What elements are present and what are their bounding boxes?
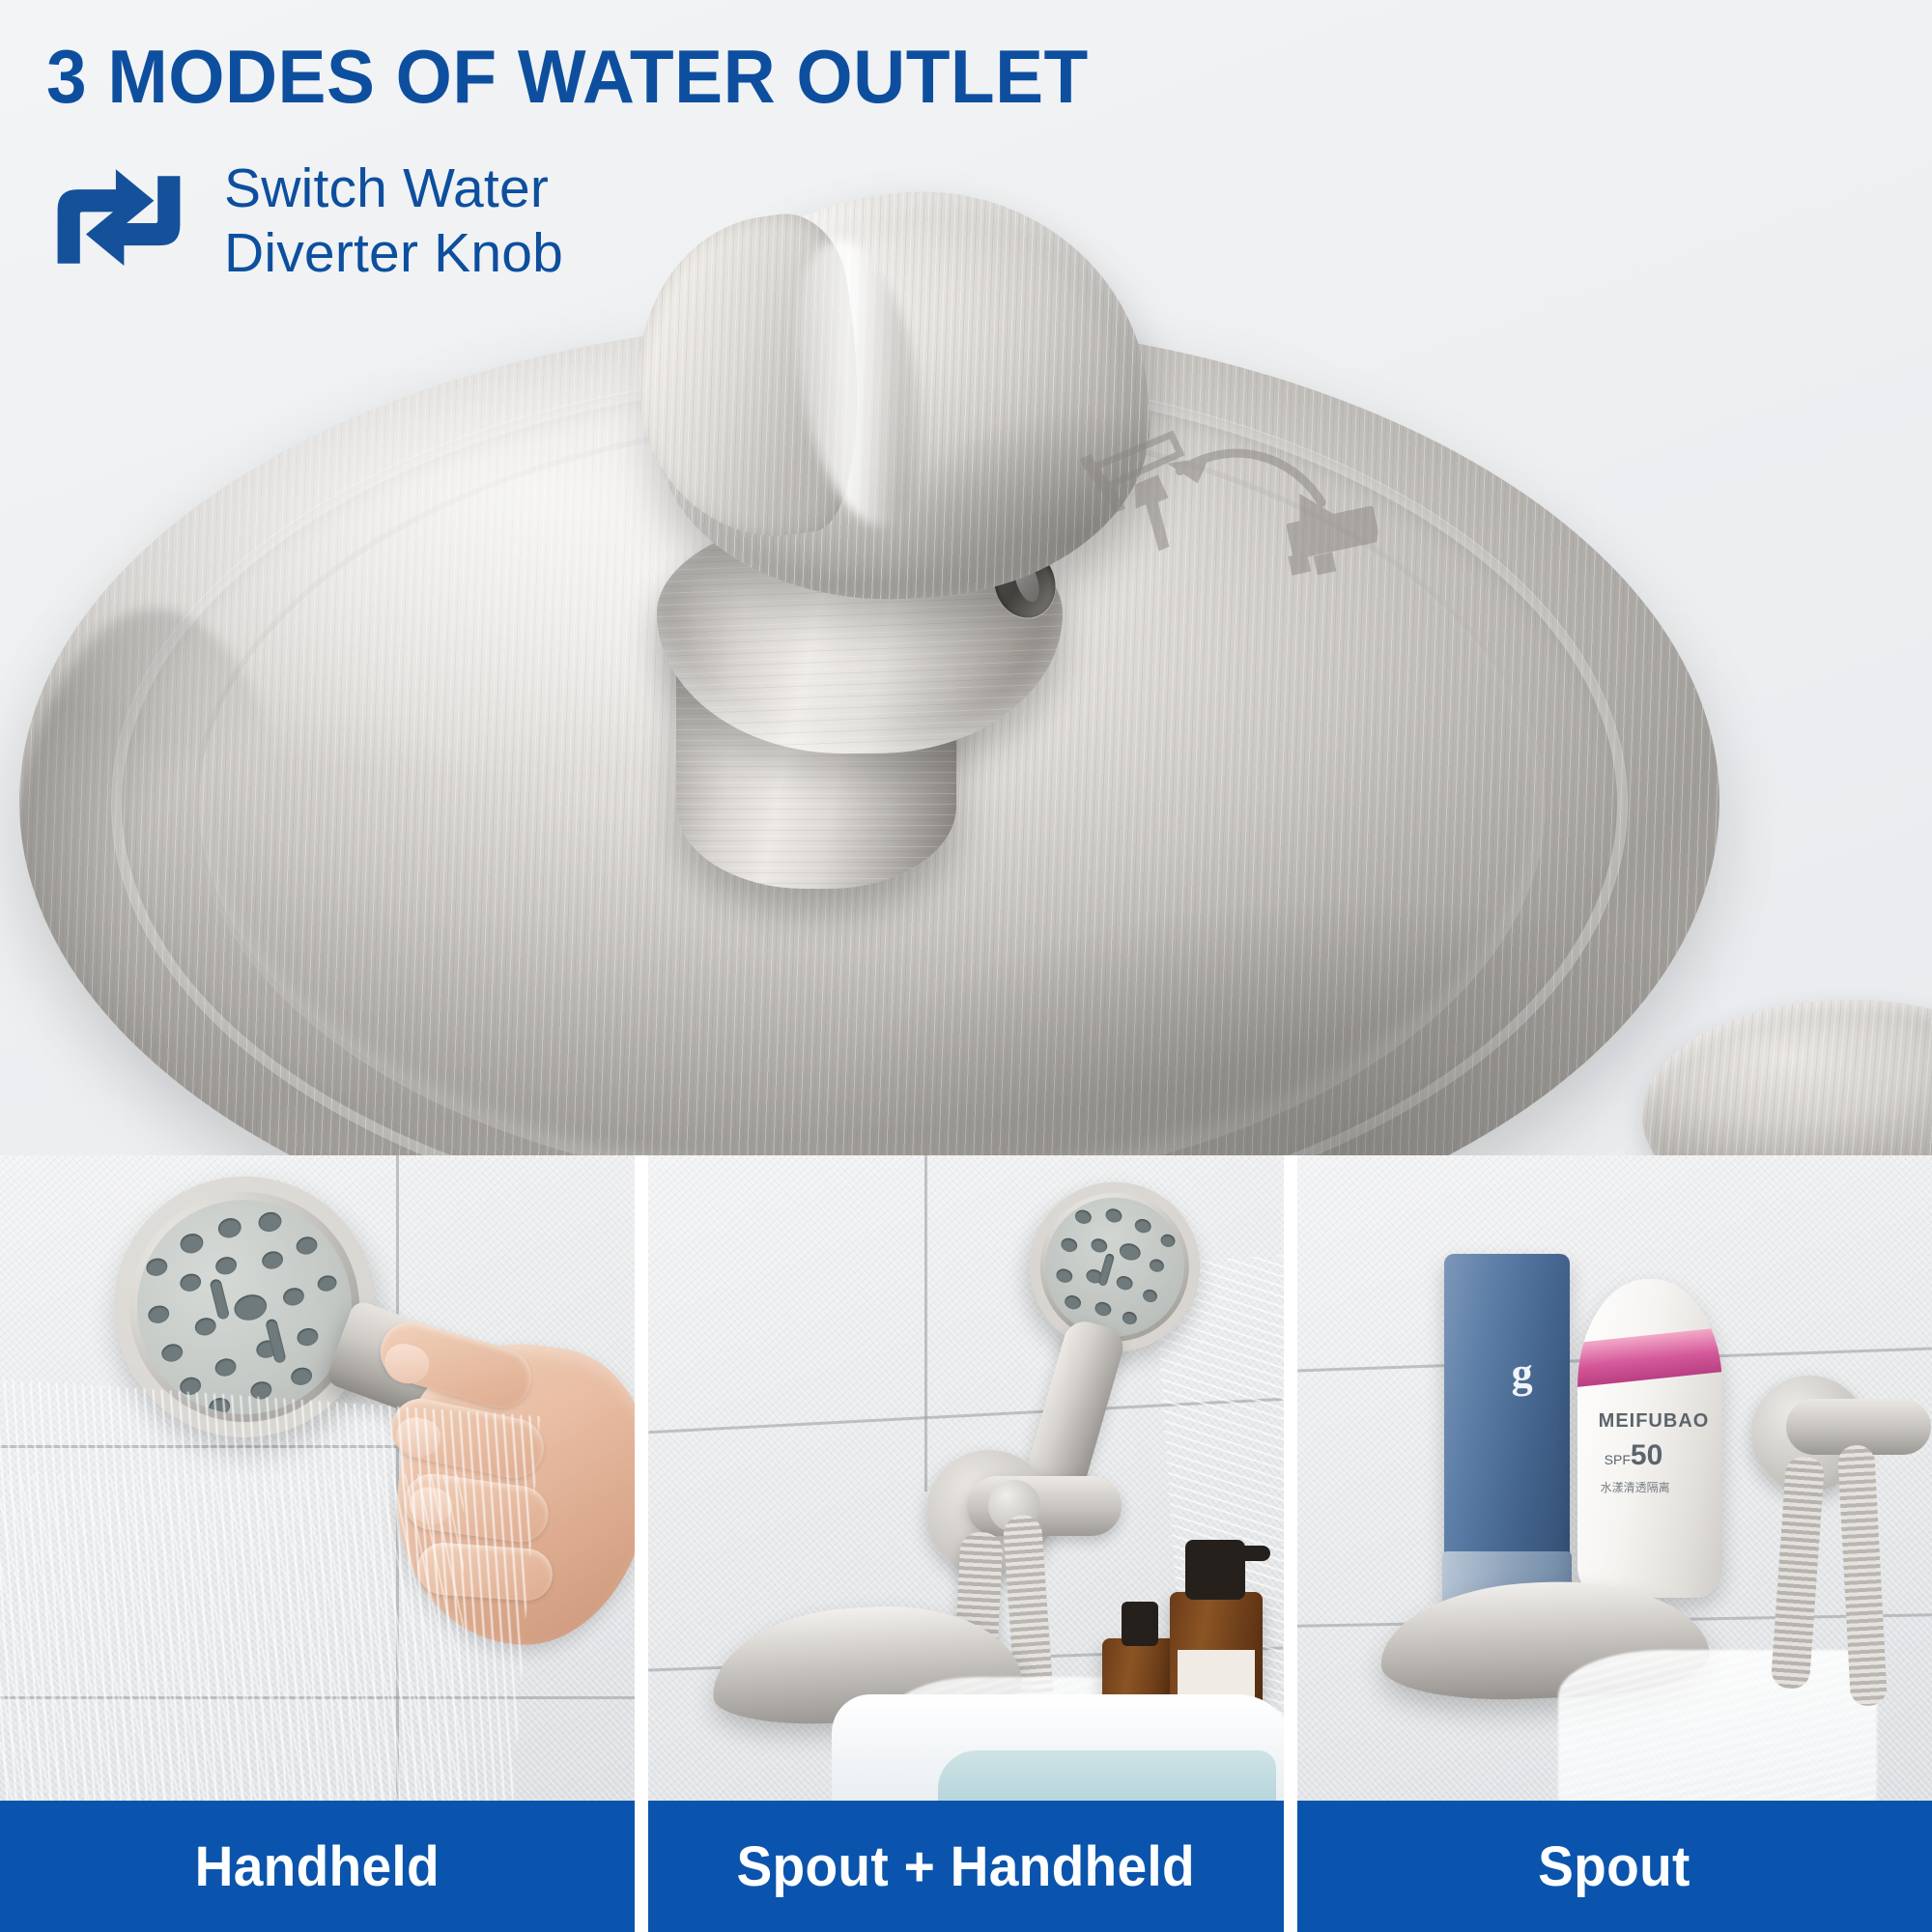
switch-arrows-icon-lower — [79, 160, 191, 272]
caption-bar-handheld: Handheld — [0, 1801, 635, 1932]
water-spray-secondary — [0, 1474, 464, 1801]
spout-and-handheld-photo — [648, 1155, 1283, 1801]
lotion-spf: SPF50 — [1605, 1439, 1663, 1472]
lotion-description: 水漾清透隔离 — [1601, 1480, 1670, 1495]
panel-handheld: Handheld — [0, 1155, 635, 1932]
waterfall-spout-photo: g MEIFUBAO SPF50 水漾清透隔离 — [1297, 1155, 1932, 1801]
caption-bar-spout: Spout — [1297, 1801, 1932, 1932]
lotion-spf-value: 50 — [1631, 1439, 1662, 1471]
waterfall-stream — [1558, 1650, 1877, 1801]
diverter-knob — [638, 193, 1179, 889]
hero-header: 3 MODES OF WATER OUTLET Switch Water Div… — [46, 39, 1128, 287]
caption-label: Spout — [1539, 1834, 1691, 1899]
sunscreen-lotion-bottle: MEIFUBAO SPF50 水漾清透隔离 — [1577, 1279, 1722, 1598]
caption-label: Spout + Handheld — [737, 1834, 1195, 1899]
handheld-shower-spray-photo — [0, 1155, 635, 1801]
tube-logo: g — [1512, 1349, 1533, 1398]
tile-grout-line — [924, 1155, 927, 1492]
caption-bar-spout-handheld: Spout + Handheld — [648, 1801, 1283, 1932]
subtitle-line-2: Diverter Knob — [224, 221, 563, 286]
lotion-cap-band — [1577, 1327, 1722, 1387]
mode-panels-row: Handheld — [0, 1155, 1932, 1932]
page-title: 3 MODES OF WATER OUTLET — [46, 39, 1085, 114]
escutcheon-shadow — [19, 609, 299, 1155]
subtitle-text: Switch Water Diverter Knob — [224, 156, 563, 287]
lotion-spf-prefix: SPF — [1605, 1452, 1631, 1467]
bathtub-water — [938, 1750, 1276, 1801]
lotion-brand: MEIFUBAO — [1599, 1410, 1710, 1433]
bottle-dropper-cap — [1122, 1602, 1158, 1646]
bottle-pump-nozzle — [1224, 1546, 1270, 1561]
subtitle-line-1: Switch Water — [224, 156, 563, 221]
hero-section: 3 MODES OF WATER OUTLET Switch Water Div… — [0, 0, 1932, 1155]
panel-spout-handheld: Spout + Handheld — [648, 1155, 1283, 1932]
shower-face — [1029, 1181, 1201, 1353]
caption-label: Handheld — [195, 1834, 440, 1899]
panel-spout: g MEIFUBAO SPF50 水漾清透隔离 Spout — [1297, 1155, 1932, 1932]
subtitle-row: Switch Water Diverter Knob — [46, 156, 1128, 287]
